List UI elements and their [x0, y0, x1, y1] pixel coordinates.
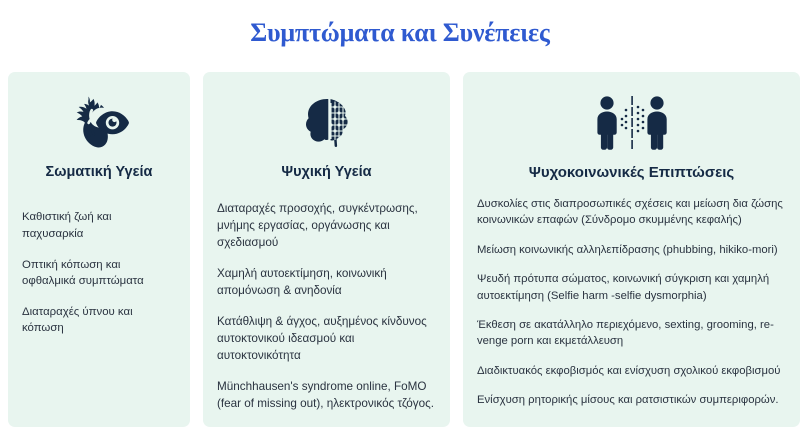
card-body: Καθιστική ζωή και παχυσαρκία Οπτική κόπω…	[22, 209, 176, 336]
list-item: Οπτική κόπωση και οφθαλμικά συμπτώματα	[22, 257, 176, 289]
list-item: Διαταραχές προσοχής, συγκέντρωσης, μνήμη…	[217, 201, 436, 251]
card-heading: Ψυχική Υγεία	[217, 164, 436, 181]
card-heading: Σωματική Υγεία	[22, 164, 176, 181]
card-body: Δυσκολίες στις διαπροσωπικές σχέσεις και…	[477, 196, 786, 408]
list-item: Δυσκολίες στις διαπροσωπικές σχέσεις και…	[477, 196, 786, 229]
card-heading: Ψυχοκοινωνικές Επιπτώσεις	[477, 164, 786, 182]
cards-container: Σωματική Υγεία Καθιστική ζωή και παχυσαρ…	[8, 72, 800, 427]
card-somatic-health: Σωματική Υγεία Καθιστική ζωή και παχυσαρ…	[8, 72, 190, 427]
list-item: Μείωση κοινωνικής αλληλεπίδρασης (phubbi…	[477, 242, 786, 258]
infographic-page: Συμπτώματα και Συνέπειες Σωματική Υγεία …	[0, 0, 800, 434]
two-people-divided-icon	[477, 92, 786, 154]
list-item: Διαδικτυακός εκφοβισμός και ενίσχυση σχο…	[477, 363, 786, 379]
list-item: Ψευδή πρότυπα σώματος, κοινωνική σύγκρισ…	[477, 271, 786, 304]
list-item: Διαταραχές ύπνου και κόπωση	[22, 304, 176, 336]
card-body: Διαταραχές προσοχής, συγκέντρωσης, μνήμη…	[217, 201, 436, 412]
list-item: Münchhausen's syndrome online, FoMO (fea…	[217, 379, 436, 412]
brain-network-icon	[217, 92, 436, 154]
card-mental-health: Ψυχική Υγεία Διαταραχές προσοχής, συγκέν…	[203, 72, 450, 427]
page-title: Συμπτώματα και Συνέπειες	[0, 18, 800, 48]
list-item: Ενίσχυση ρητορικής μίσους και ρατσιστικώ…	[477, 392, 786, 408]
list-item: Καθιστική ζωή και παχυσαρκία	[22, 209, 176, 241]
list-item: Χαμηλή αυτοεκτίμηση, κοινωνική απομόνωση…	[217, 266, 436, 299]
heart-eye-icon	[22, 92, 176, 154]
card-psychosocial-impact: Ψυχοκοινωνικές Επιπτώσεις Δυσκολίες στις…	[463, 72, 800, 427]
list-item: Έκθεση σε ακατάλληλο περιεχόμενο, sextin…	[477, 317, 786, 350]
list-item: Κατάθλιψη & άγχος, αυξημένος κίνδυνος αυ…	[217, 314, 436, 364]
